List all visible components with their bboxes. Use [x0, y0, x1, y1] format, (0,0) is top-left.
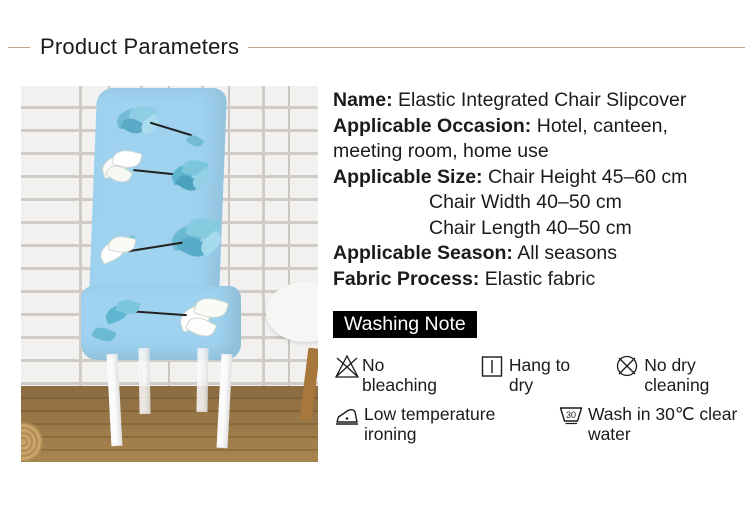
spec-value: meeting room, home use: [333, 140, 549, 162]
washing-note-badge: Washing Note: [333, 311, 477, 338]
care-label: Wash in 30℃ clear water: [588, 401, 738, 444]
spec-value: Hotel, canteen,: [537, 115, 668, 137]
spec-label: Applicable Season:: [333, 242, 513, 264]
care-row-1: No bleaching Hang to dry: [333, 352, 748, 395]
spec-value: Elastic Integrated Chair Slipcover: [398, 89, 686, 111]
spec-row-occasion: Applicable Occasion: Hotel, canteen,: [333, 114, 745, 140]
spec-row-size: Applicable Size: Chair Height 45–60 cm: [333, 165, 745, 191]
care-item-low-temperature-ironing: Low temperature ironing: [333, 401, 531, 444]
care-item-no-bleaching: No bleaching: [333, 352, 462, 395]
no-bleaching-icon: [333, 352, 361, 380]
product-photo: [21, 86, 318, 462]
no-dry-cleaning-icon: [613, 352, 641, 380]
care-symbols-list: No bleaching Hang to dry: [333, 352, 748, 450]
spec-label: Applicable Size:: [333, 166, 483, 188]
page-title: Product Parameters: [30, 34, 248, 60]
section-header: Product Parameters: [0, 30, 750, 64]
wash-temp-value: 30: [566, 410, 576, 420]
spec-label: Fabric Process:: [333, 268, 479, 290]
header-rule: [248, 47, 745, 48]
spec-row-occasion-cont: meeting room, home use: [333, 139, 745, 165]
spec-label: Applicable Occasion:: [333, 115, 531, 137]
wood-floor: [21, 386, 318, 462]
spec-value: Chair Width 40–50 cm: [429, 191, 622, 213]
care-label: No dry cleaning: [644, 352, 738, 395]
care-item-wash-30c: 30 Wash in 30℃ clear water: [557, 401, 738, 444]
low-temperature-ironing-icon: [333, 401, 361, 429]
spec-row-size-width: Chair Width 40–50 cm: [333, 190, 745, 216]
product-parameters-page: Product Parameters: [0, 0, 750, 506]
chair-leg-back-left: [138, 348, 150, 414]
spec-list: Name: Elastic Integrated Chair Slipcover…: [333, 88, 745, 292]
hang-to-dry-icon: [478, 352, 506, 380]
spec-row-size-length: Chair Length 40–50 cm: [333, 216, 745, 242]
care-item-no-dry-cleaning: No dry cleaning: [613, 352, 738, 395]
header-dash-left: [8, 47, 30, 48]
wash-30c-icon: 30: [557, 401, 585, 429]
spec-value: Chair Length 40–50 cm: [429, 217, 632, 239]
chair-seat-slipcover: [81, 286, 241, 360]
spec-value: Elastic fabric: [485, 268, 596, 290]
spec-value: Chair Height 45–60 cm: [488, 166, 687, 188]
care-label: Low temperature ironing: [364, 401, 531, 444]
spec-label: Name:: [333, 89, 393, 111]
spec-row-fabric: Fabric Process: Elastic fabric: [333, 267, 745, 293]
care-label: Hang to dry: [509, 352, 597, 395]
care-item-hang-to-dry: Hang to dry: [478, 352, 597, 395]
spec-row-season: Applicable Season: All seasons: [333, 241, 745, 267]
care-row-2: Low temperature ironing 30 Wash in 30℃ c…: [333, 401, 748, 444]
care-label: No bleaching: [362, 352, 462, 395]
chair-leg-back-right: [196, 348, 208, 412]
spec-row-name: Name: Elastic Integrated Chair Slipcover: [333, 88, 745, 114]
spec-value: All seasons: [517, 242, 617, 264]
